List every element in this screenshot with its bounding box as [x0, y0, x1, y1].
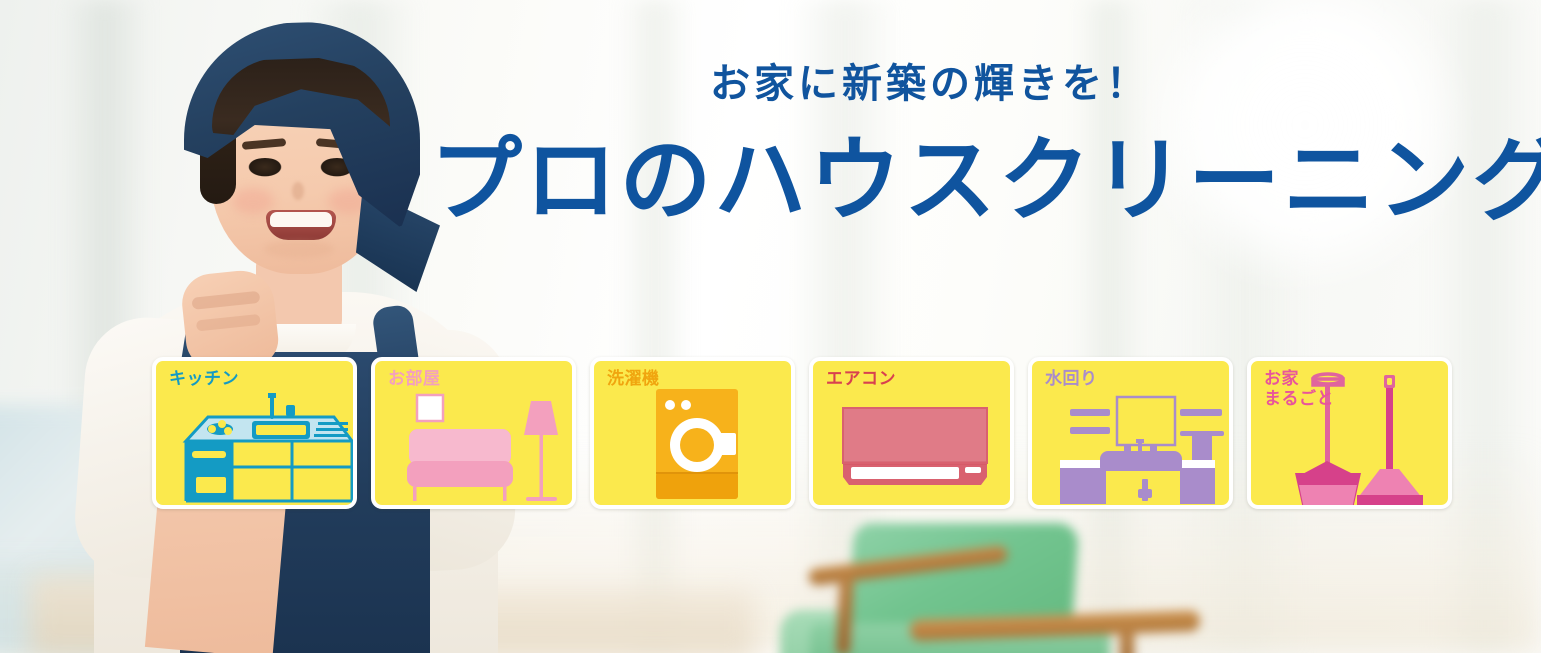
service-card-label: お家 まるごと	[1264, 369, 1334, 410]
service-card-label: 洗濯機	[607, 369, 660, 389]
service-card-label: エアコン	[826, 369, 896, 389]
headline-subtitle: お家に新築の輝きを！	[430, 64, 1430, 104]
hero-banner: お家に新築の輝きを！ プロのハウスクリーニング キッチン	[0, 0, 1541, 653]
service-card-kitchen[interactable]: キッチン	[152, 357, 357, 509]
staff-mouth	[266, 210, 336, 240]
service-card-whole-house[interactable]: お家 まるごと	[1247, 357, 1452, 509]
knuckle-line	[191, 291, 260, 310]
headline-title: プロのハウスクリーニング	[430, 130, 1430, 233]
headline-block: お家に新築の輝きを！ プロのハウスクリーニング	[430, 64, 1430, 233]
service-card-label: キッチン	[169, 369, 239, 389]
service-card-room[interactable]: お部屋	[371, 357, 576, 509]
staff-nose	[292, 182, 304, 200]
green-armchair	[790, 515, 1220, 653]
service-card-air-conditioner[interactable]: エアコン	[809, 357, 1014, 509]
staff-cheek-left	[232, 188, 274, 214]
staff-chin	[264, 240, 334, 258]
service-card-label: 水回り	[1045, 369, 1098, 389]
staff-teeth	[270, 212, 332, 227]
service-card-water-areas[interactable]: 水回り	[1028, 357, 1233, 509]
service-card-list: キッチン	[152, 357, 1455, 509]
service-card-label: お部屋	[388, 369, 441, 389]
armchair-leg-right	[1120, 627, 1134, 653]
service-card-washing-machine[interactable]: 洗濯機	[590, 357, 795, 509]
staff-eye-left	[246, 158, 284, 178]
knuckle-line	[196, 314, 261, 332]
